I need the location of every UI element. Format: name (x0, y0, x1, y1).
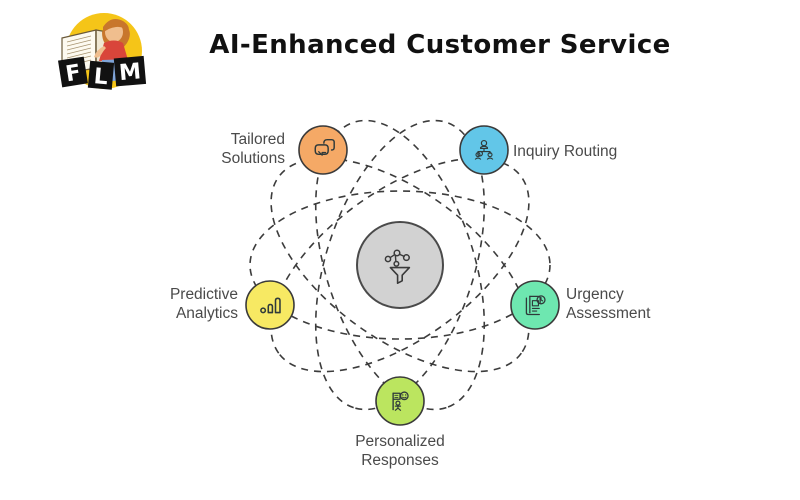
node-personalized-responses[interactable] (376, 377, 424, 425)
node-circle-urgency-assessment[interactable] (511, 281, 559, 329)
center-node[interactable] (357, 222, 443, 308)
node-urgency-assessment[interactable] (511, 281, 559, 329)
node-circle-personalized-responses[interactable] (376, 377, 424, 425)
center-node-circle[interactable] (357, 222, 443, 308)
node-label-tailored-solutions: Tailored Solutions (0, 130, 285, 168)
node-inquiry-routing[interactable] (460, 126, 508, 174)
node-circle-tailored-solutions[interactable] (299, 126, 347, 174)
node-tailored-solutions[interactable] (299, 126, 347, 174)
node-label-personalized-responses: Personalized Responses (290, 432, 510, 470)
node-label-predictive-analytics: Predictive Analytics (0, 285, 238, 323)
node-label-inquiry-routing: Inquiry Routing (513, 142, 800, 161)
atom-orbit-diagram (0, 0, 800, 500)
node-label-urgency-assessment: Urgency Assessment (566, 285, 800, 323)
node-predictive-analytics[interactable] (246, 281, 294, 329)
